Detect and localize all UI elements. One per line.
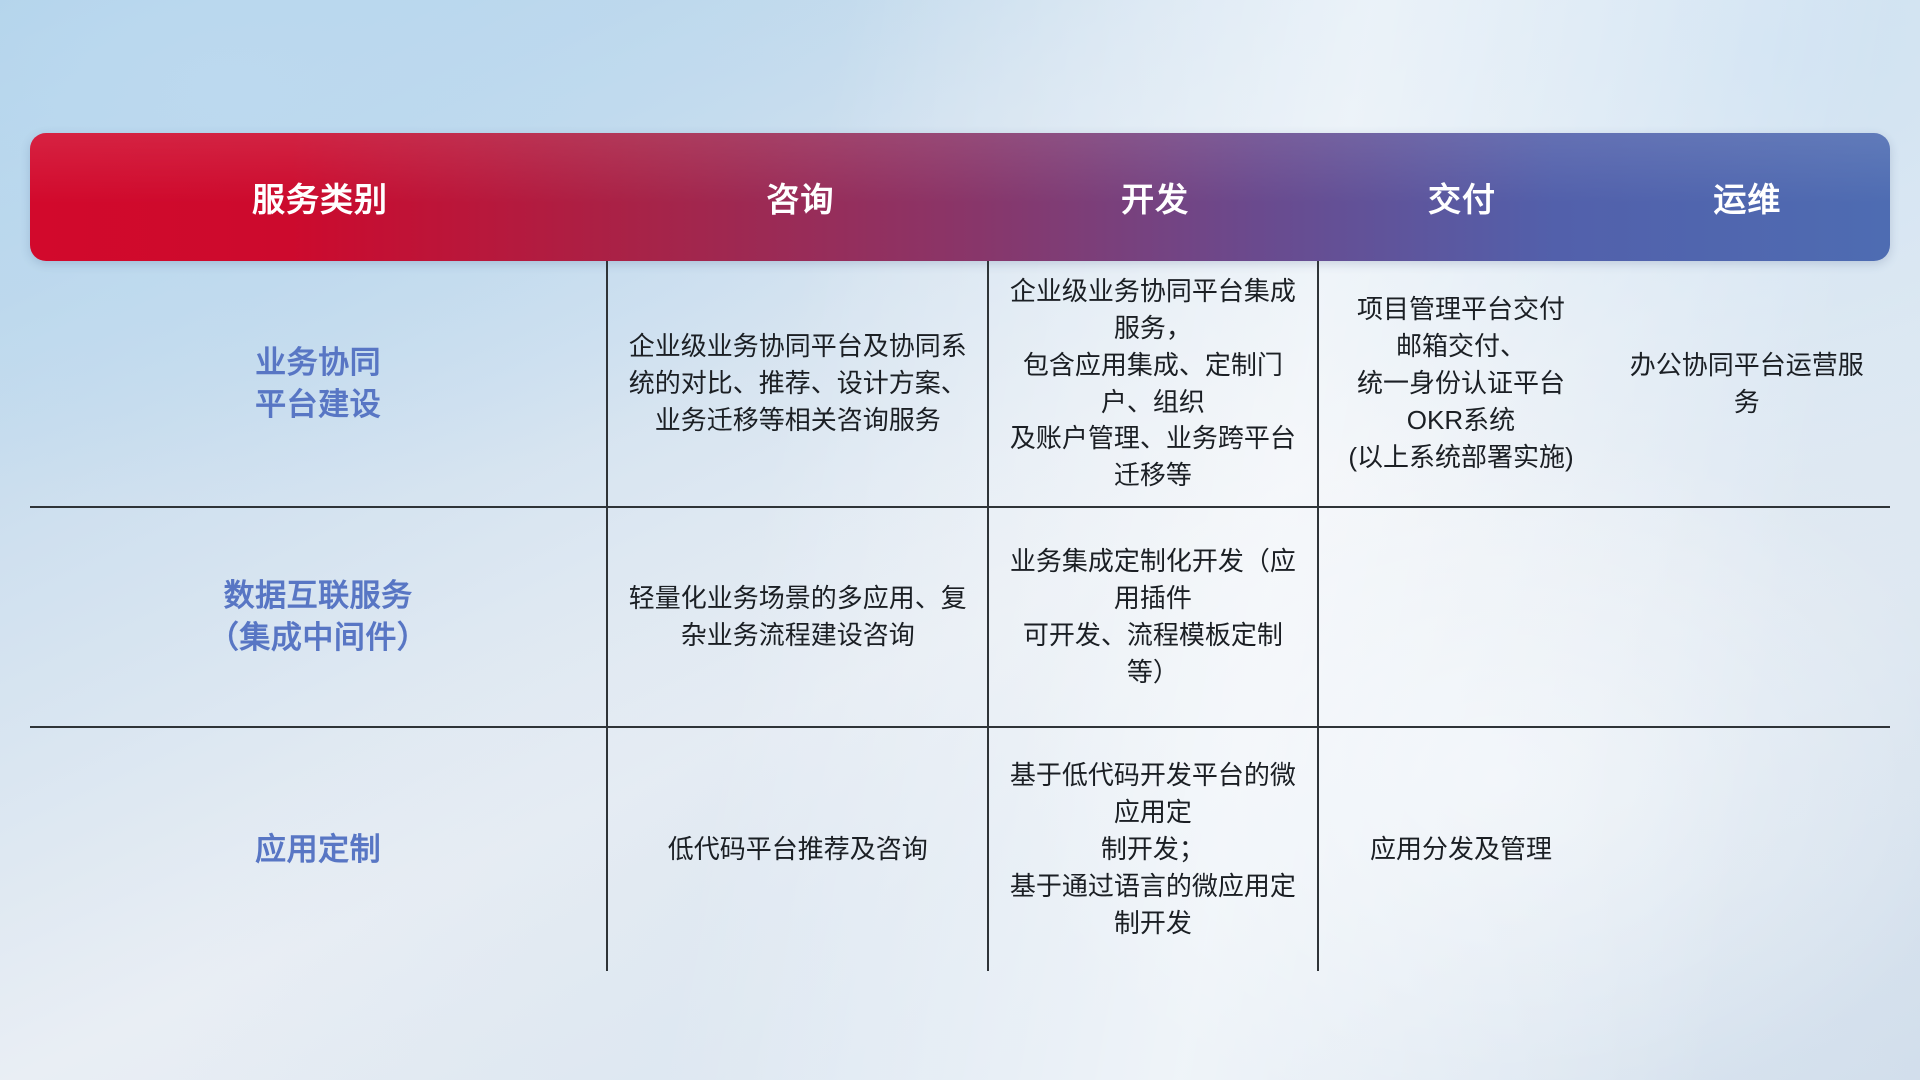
column-header-delivery: 交付 bbox=[1319, 173, 1604, 221]
cell-development: 业务集成定制化开发（应用插件 可开发、流程模板定制等） bbox=[987, 506, 1316, 726]
category-label: 数据互联服务 （集成中间件） bbox=[208, 575, 429, 659]
table-row: 业务协同 平台建设 企业级业务协同平台及协同系 统的对比、推荐、设计方案、 业务… bbox=[30, 261, 1890, 506]
table-row: 数据互联服务 （集成中间件） 轻量化业务场景的多应用、复 杂业务流程建设咨询 业… bbox=[30, 506, 1890, 726]
cell-consulting: 低代码平台推荐及咨询 bbox=[606, 726, 987, 971]
row-category-cell: 应用定制 bbox=[30, 726, 606, 971]
cell-operations: 办公协同平台运营服务 bbox=[1603, 261, 1890, 506]
column-header-operations: 运维 bbox=[1605, 173, 1890, 221]
column-header-service-category: 服务类别 bbox=[30, 173, 610, 221]
cell-operations bbox=[1603, 506, 1890, 726]
cell-consulting: 轻量化业务场景的多应用、复 杂业务流程建设咨询 bbox=[606, 506, 987, 726]
cell-operations bbox=[1603, 726, 1890, 971]
cell-development: 基于低代码开发平台的微应用定 制开发； 基于通过语言的微应用定制开发 bbox=[987, 726, 1316, 971]
category-label: 业务协同 平台建设 bbox=[255, 342, 381, 426]
cell-delivery: 项目管理平台交付 邮箱交付、 统一身份认证平台 OKR系统 (以上系统部署实施) bbox=[1317, 261, 1604, 506]
cell-delivery bbox=[1317, 506, 1604, 726]
service-matrix-table: 服务类别 咨询 开发 交付 运维 业务协同 平台建设 企业级业务协同平台及协同系… bbox=[30, 133, 1890, 971]
cell-delivery: 应用分发及管理 bbox=[1317, 726, 1604, 971]
cell-consulting: 企业级业务协同平台及协同系 统的对比、推荐、设计方案、 业务迁移等相关咨询服务 bbox=[606, 261, 987, 506]
table-header-row: 服务类别 咨询 开发 交付 运维 bbox=[30, 133, 1890, 261]
category-label: 应用定制 bbox=[255, 829, 381, 871]
table-row: 应用定制 低代码平台推荐及咨询 基于低代码开发平台的微应用定 制开发； 基于通过… bbox=[30, 726, 1890, 971]
cell-development: 企业级业务协同平台集成服务， 包含应用集成、定制门户、组织 及账户管理、业务跨平… bbox=[987, 261, 1316, 506]
column-header-development: 开发 bbox=[991, 173, 1319, 221]
row-category-cell: 业务协同 平台建设 bbox=[30, 261, 606, 506]
column-header-consulting: 咨询 bbox=[610, 173, 991, 221]
table-body: 业务协同 平台建设 企业级业务协同平台及协同系 统的对比、推荐、设计方案、 业务… bbox=[30, 261, 1890, 971]
row-category-cell: 数据互联服务 （集成中间件） bbox=[30, 506, 606, 726]
